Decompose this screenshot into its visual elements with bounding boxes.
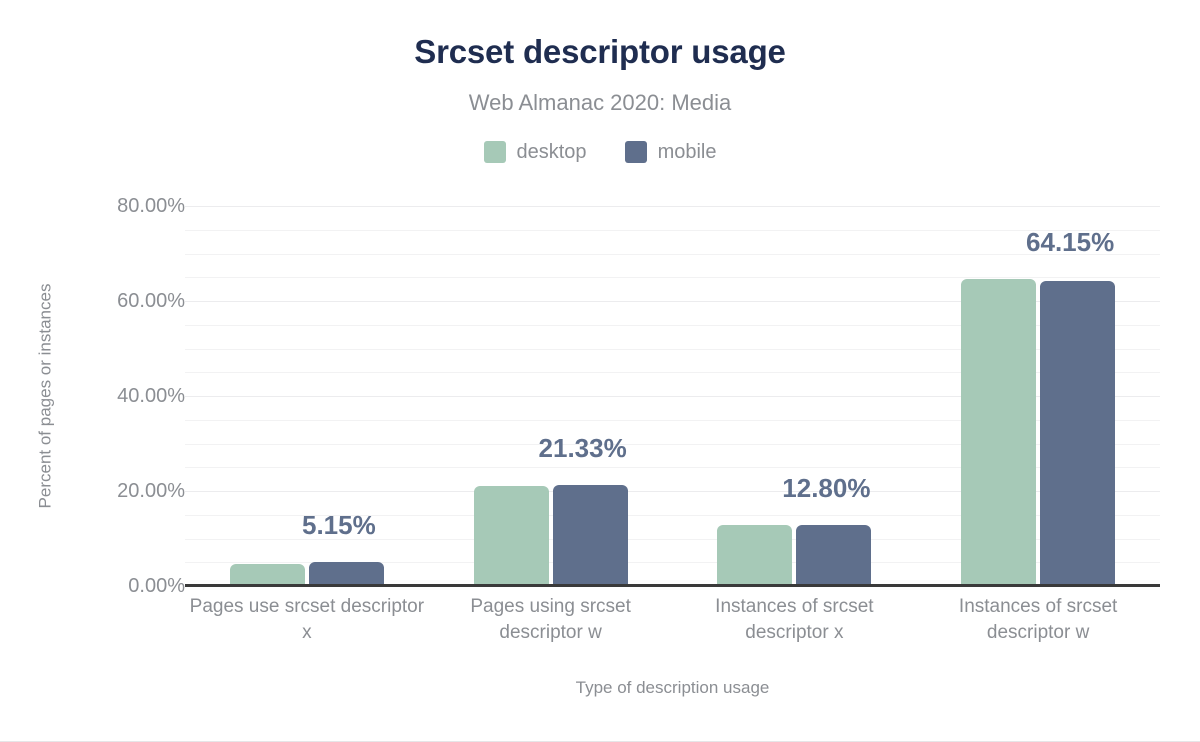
- bar-mobile[interactable]: [309, 562, 384, 586]
- y-axis-tick-label: 80.00%: [75, 196, 185, 216]
- x-axis-tick-label: Pages use srcset descriptor x: [185, 594, 429, 646]
- bar-pair: [916, 206, 1160, 586]
- y-axis-title: Percent of pages or instances: [32, 206, 58, 586]
- x-axis-tick-label: Instances of srcset descriptor x: [673, 594, 917, 646]
- bar-group: 21.33%: [429, 206, 673, 586]
- bar-desktop[interactable]: [961, 279, 1036, 586]
- bar-desktop[interactable]: [474, 486, 549, 586]
- chart-subtitle: Web Almanac 2020: Media: [0, 88, 1200, 118]
- bar-mobile[interactable]: [1040, 281, 1115, 586]
- bar-mobile[interactable]: [553, 485, 628, 586]
- x-axis-tick-label: Instances of srcset descriptor w: [916, 594, 1160, 646]
- bar-group: 64.15%: [916, 206, 1160, 586]
- bar-pair: [673, 206, 917, 586]
- chart-title: Srcset descriptor usage: [0, 30, 1200, 74]
- bar-desktop[interactable]: [230, 564, 305, 586]
- bar-value-label: 5.15%: [217, 510, 461, 540]
- x-axis-tick-labels: Pages use srcset descriptor xPages using…: [185, 594, 1160, 646]
- bar-value-label: 12.80%: [705, 473, 949, 503]
- y-axis-tick-label: 60.00%: [75, 291, 185, 311]
- y-axis-tick-label: 40.00%: [75, 386, 185, 406]
- bar-groups: 5.15%21.33%12.80%64.15%: [185, 206, 1160, 586]
- bar-group: 12.80%: [673, 206, 917, 586]
- legend-item-mobile[interactable]: mobile: [625, 140, 717, 164]
- legend-label-mobile: mobile: [658, 140, 717, 164]
- legend-swatch-mobile: [625, 141, 647, 163]
- y-axis-tick-label: 20.00%: [75, 481, 185, 501]
- x-axis-title: Type of description usage: [185, 676, 1160, 700]
- bar-value-label: 21.33%: [461, 433, 705, 463]
- y-axis-tick-label: 0.00%: [75, 576, 185, 596]
- bar-value-label: 64.15%: [948, 227, 1192, 257]
- chart-legend: desktop mobile: [0, 140, 1200, 164]
- bar-mobile[interactable]: [796, 525, 871, 586]
- x-axis-line: [185, 584, 1160, 587]
- plot-area: 5.15%21.33%12.80%64.15%: [185, 206, 1160, 586]
- x-axis-tick-label: Pages using srcset descriptor w: [429, 594, 673, 646]
- bar-desktop[interactable]: [717, 525, 792, 586]
- chart-container: Srcset descriptor usage Web Almanac 2020…: [0, 0, 1200, 742]
- legend-item-desktop[interactable]: desktop: [484, 140, 587, 164]
- bar-group: 5.15%: [185, 206, 429, 586]
- y-axis-title-text: Percent of pages or instances: [35, 284, 55, 509]
- bar-pair: [429, 206, 673, 586]
- legend-label-desktop: desktop: [517, 140, 587, 164]
- legend-swatch-desktop: [484, 141, 506, 163]
